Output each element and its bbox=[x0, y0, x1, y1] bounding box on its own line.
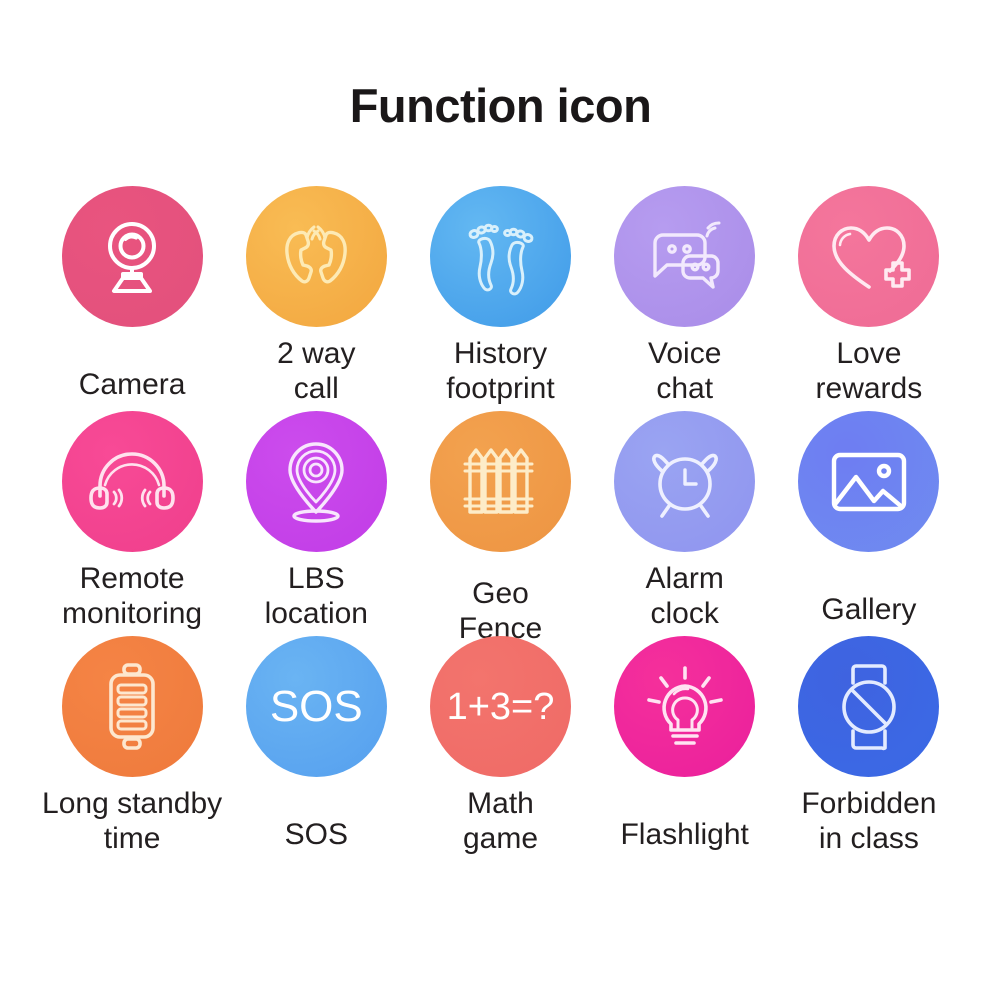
grid-item-lbs-location[interactable]: LBS location bbox=[224, 411, 408, 636]
alarm-clock-icon bbox=[644, 442, 726, 522]
watch-forbidden-icon bbox=[830, 663, 908, 751]
long-standby-badge[interactable] bbox=[62, 636, 203, 777]
grid-item-label: 2 way call bbox=[277, 336, 355, 407]
grid-item-label: Forbidden in class bbox=[801, 786, 936, 857]
grid-item-two-way-call[interactable]: 2 way call bbox=[224, 186, 408, 411]
grid-item-forbidden-in-class[interactable]: Forbidden in class bbox=[777, 636, 961, 861]
headphones-icon bbox=[88, 444, 176, 520]
sos-text-icon: SOS bbox=[270, 685, 363, 729]
camera-badge[interactable] bbox=[62, 186, 203, 327]
grid-item-label: Remote monitoring bbox=[62, 561, 202, 632]
grid-item-label: Alarm clock bbox=[646, 561, 724, 632]
grid-item-math-game[interactable]: 1+3=? Math game bbox=[408, 636, 592, 861]
battery-icon bbox=[101, 663, 163, 751]
history-footprint-badge[interactable] bbox=[430, 186, 571, 327]
grid-item-label: History footprint bbox=[446, 336, 554, 407]
webcam-icon bbox=[92, 217, 172, 297]
grid-item-label: Math game bbox=[463, 786, 538, 857]
map-pin-icon bbox=[276, 440, 356, 524]
grid-item-alarm-clock[interactable]: Alarm clock bbox=[593, 411, 777, 636]
grid-item-history-footprint[interactable]: History footprint bbox=[408, 186, 592, 411]
forbidden-in-class-badge[interactable] bbox=[798, 636, 939, 777]
grid-item-label: Gallery bbox=[821, 592, 916, 627]
grid-item-flashlight[interactable]: Flashlight bbox=[593, 636, 777, 861]
grid-item-love-rewards[interactable]: Love rewards bbox=[777, 186, 961, 411]
grid-item-label: Camera bbox=[79, 367, 186, 402]
page-title: Function icon bbox=[0, 78, 1001, 133]
chat-bubbles-icon bbox=[643, 219, 727, 295]
photo-icon bbox=[828, 447, 910, 517]
gallery-badge[interactable] bbox=[798, 411, 939, 552]
geo-fence-badge[interactable] bbox=[430, 411, 571, 552]
grid-item-voice-chat[interactable]: Voice chat bbox=[593, 186, 777, 411]
fence-icon bbox=[460, 444, 540, 520]
voice-chat-badge[interactable] bbox=[614, 186, 755, 327]
math-game-badge[interactable]: 1+3=? bbox=[430, 636, 571, 777]
grid-item-geo-fence[interactable]: Geo Fence bbox=[408, 411, 592, 636]
grid-item-label: SOS bbox=[285, 817, 348, 852]
footprints-icon bbox=[460, 215, 540, 299]
grid-item-remote-monitoring[interactable]: Remote monitoring bbox=[40, 411, 224, 636]
two-phone-handsets-icon bbox=[274, 217, 358, 297]
love-rewards-badge[interactable] bbox=[798, 186, 939, 327]
math-text-icon: 1+3=? bbox=[447, 688, 555, 726]
alarm-clock-badge[interactable] bbox=[614, 411, 755, 552]
grid-item-long-standby-time[interactable]: Long standby time bbox=[40, 636, 224, 861]
function-icon-poster: Function icon Camera bbox=[0, 0, 1001, 1001]
grid-item-label: Flashlight bbox=[620, 817, 748, 852]
heart-plus-icon bbox=[826, 219, 912, 295]
lbs-location-badge[interactable] bbox=[246, 411, 387, 552]
remote-monitoring-badge[interactable] bbox=[62, 411, 203, 552]
sos-badge[interactable]: SOS bbox=[246, 636, 387, 777]
function-icon-grid: Camera 2 way call bbox=[40, 186, 961, 861]
grid-item-label: Long standby time bbox=[42, 786, 222, 857]
grid-item-label: LBS location bbox=[265, 561, 368, 632]
grid-item-sos[interactable]: SOS SOS bbox=[224, 636, 408, 861]
grid-item-label: Love rewards bbox=[816, 336, 923, 407]
grid-item-gallery[interactable]: Gallery bbox=[777, 411, 961, 636]
grid-item-label: Voice chat bbox=[648, 336, 721, 407]
light-bulb-icon bbox=[644, 664, 726, 750]
flashlight-badge[interactable] bbox=[614, 636, 755, 777]
two-way-call-badge[interactable] bbox=[246, 186, 387, 327]
grid-item-camera[interactable]: Camera bbox=[40, 186, 224, 411]
